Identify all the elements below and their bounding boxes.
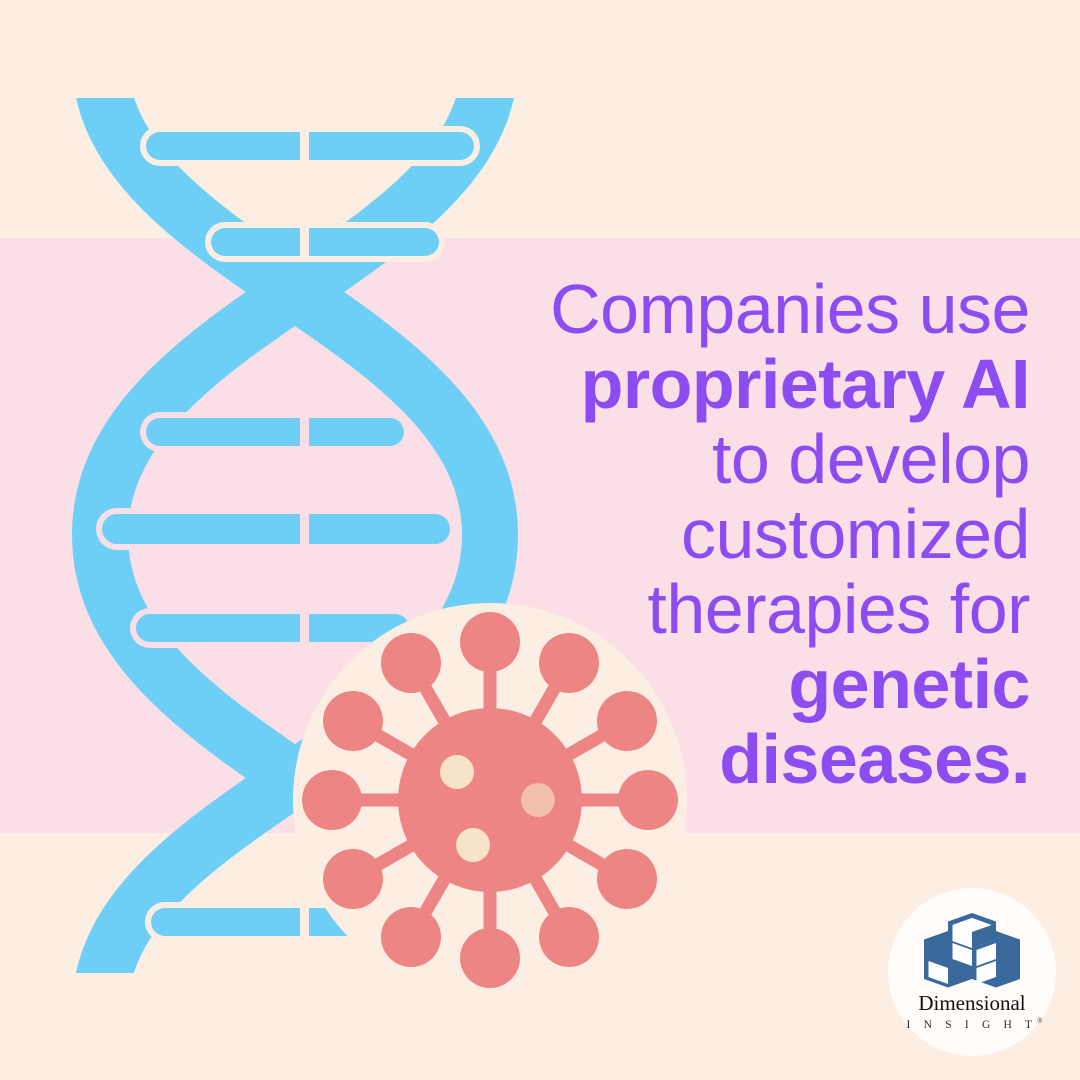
dna-rung (205, 222, 445, 262)
headline-line-7: diseases. (470, 722, 1030, 797)
registered-trademark-icon: ® (1037, 1017, 1042, 1025)
dna-rung (96, 508, 456, 550)
social-graphic-canvas: Companies use proprietary AI to develop … (0, 0, 1080, 1080)
dna-rung (140, 412, 410, 452)
headline-line-4: customized (470, 497, 1030, 572)
headline-text: Companies use proprietary AI to develop … (470, 272, 1030, 797)
virus-inner-dot (440, 755, 474, 789)
virus-inner-dot (456, 828, 490, 862)
dimensional-insight-logo-badge[interactable]: Dimensional I N S I G H T® (888, 888, 1056, 1056)
headline-line-5: therapies for (470, 572, 1030, 647)
logo-wordmark: Dimensional I N S I G H T® (902, 992, 1043, 1032)
headline-line-2: proprietary AI (470, 347, 1030, 422)
logo-company-subname: I N S I G H T® (902, 1014, 1043, 1032)
dna-rung (140, 126, 480, 166)
headline-line-6: genetic (470, 647, 1030, 722)
headline-line-3: to develop (470, 422, 1030, 497)
headline-line-1: Companies use (470, 272, 1030, 347)
logo-company-name: Dimensional (902, 992, 1043, 1014)
cube-stack-icon (923, 912, 1021, 988)
